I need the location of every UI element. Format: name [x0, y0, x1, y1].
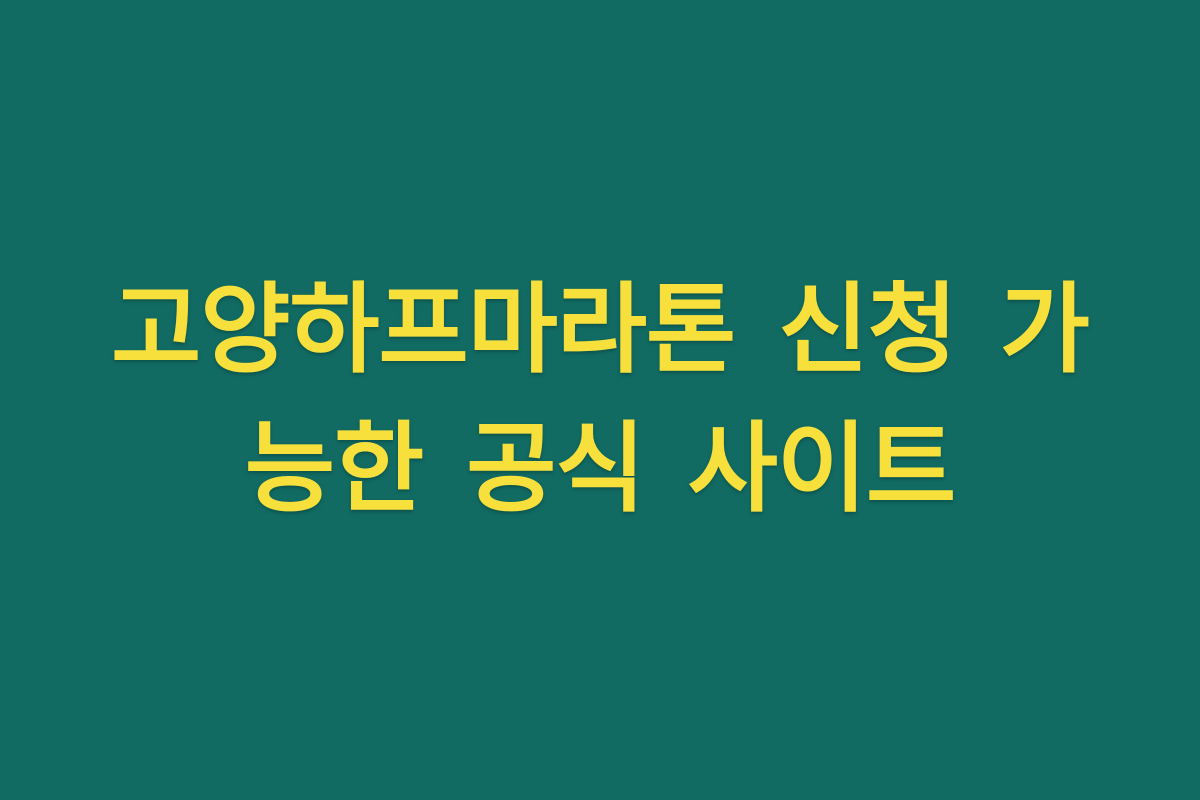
headline-line-1: 고양하프마라톤 신청 가: [80, 261, 1120, 400]
headline-line-2: 능한 공식 사이트: [80, 400, 1120, 539]
page-title: 고양하프마라톤 신청 가 능한 공식 사이트: [80, 261, 1120, 539]
banner-canvas: 고양하프마라톤 신청 가 능한 공식 사이트: [0, 0, 1200, 800]
